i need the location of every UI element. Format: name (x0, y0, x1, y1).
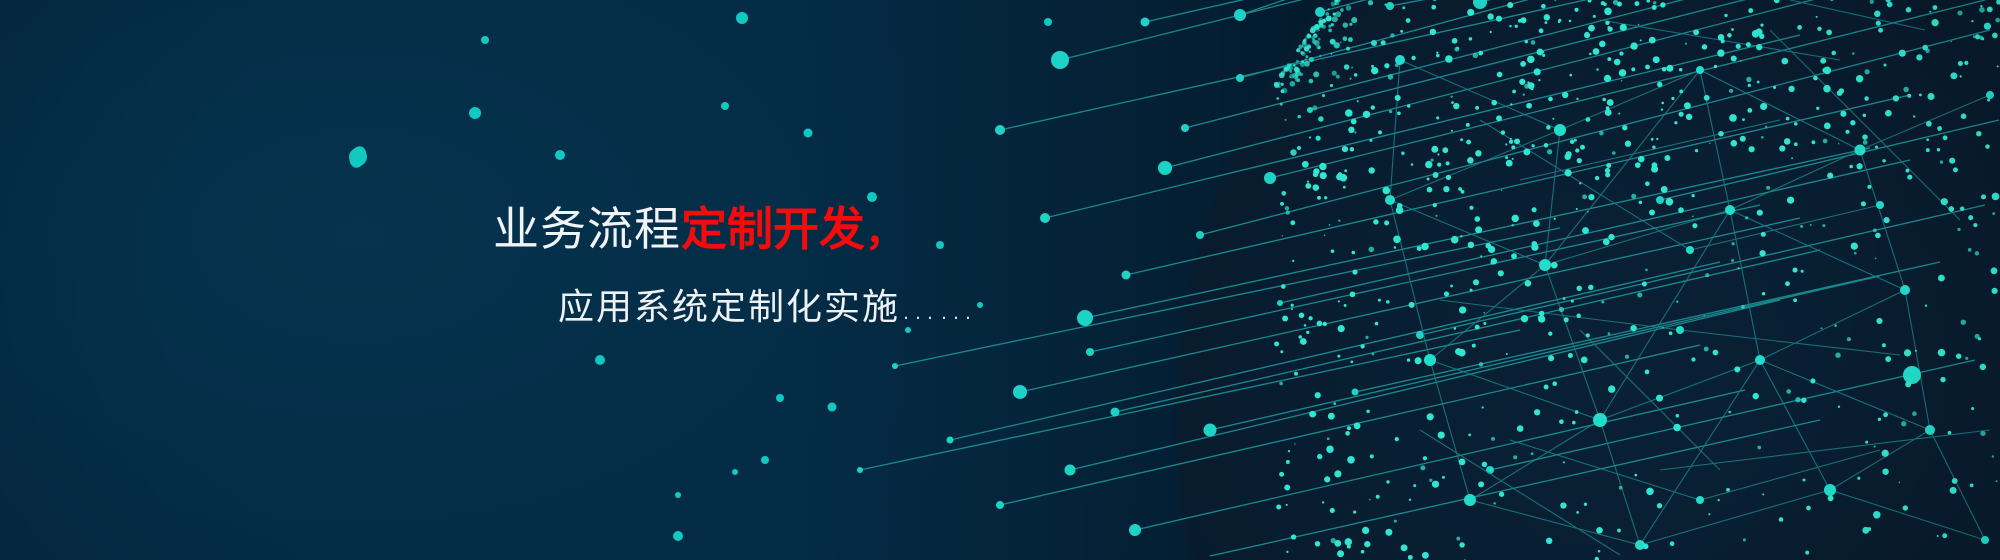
hero-banner: 业务流程定制开发， 应用系统定制化实施…… (0, 0, 2000, 560)
network-globe-graphic (0, 0, 2000, 560)
headline-plain: 业务流程 (493, 202, 681, 256)
hero-copy: 业务流程定制开发， 应用系统定制化实施…… (493, 206, 976, 326)
globe-sphere (1175, 0, 2000, 560)
headline-comma: ， (865, 210, 906, 254)
headline: 业务流程定制开发， (493, 206, 976, 252)
headline-accent: 定制开发 (681, 203, 865, 255)
subheadline: 应用系统定制化实施…… (558, 290, 976, 326)
